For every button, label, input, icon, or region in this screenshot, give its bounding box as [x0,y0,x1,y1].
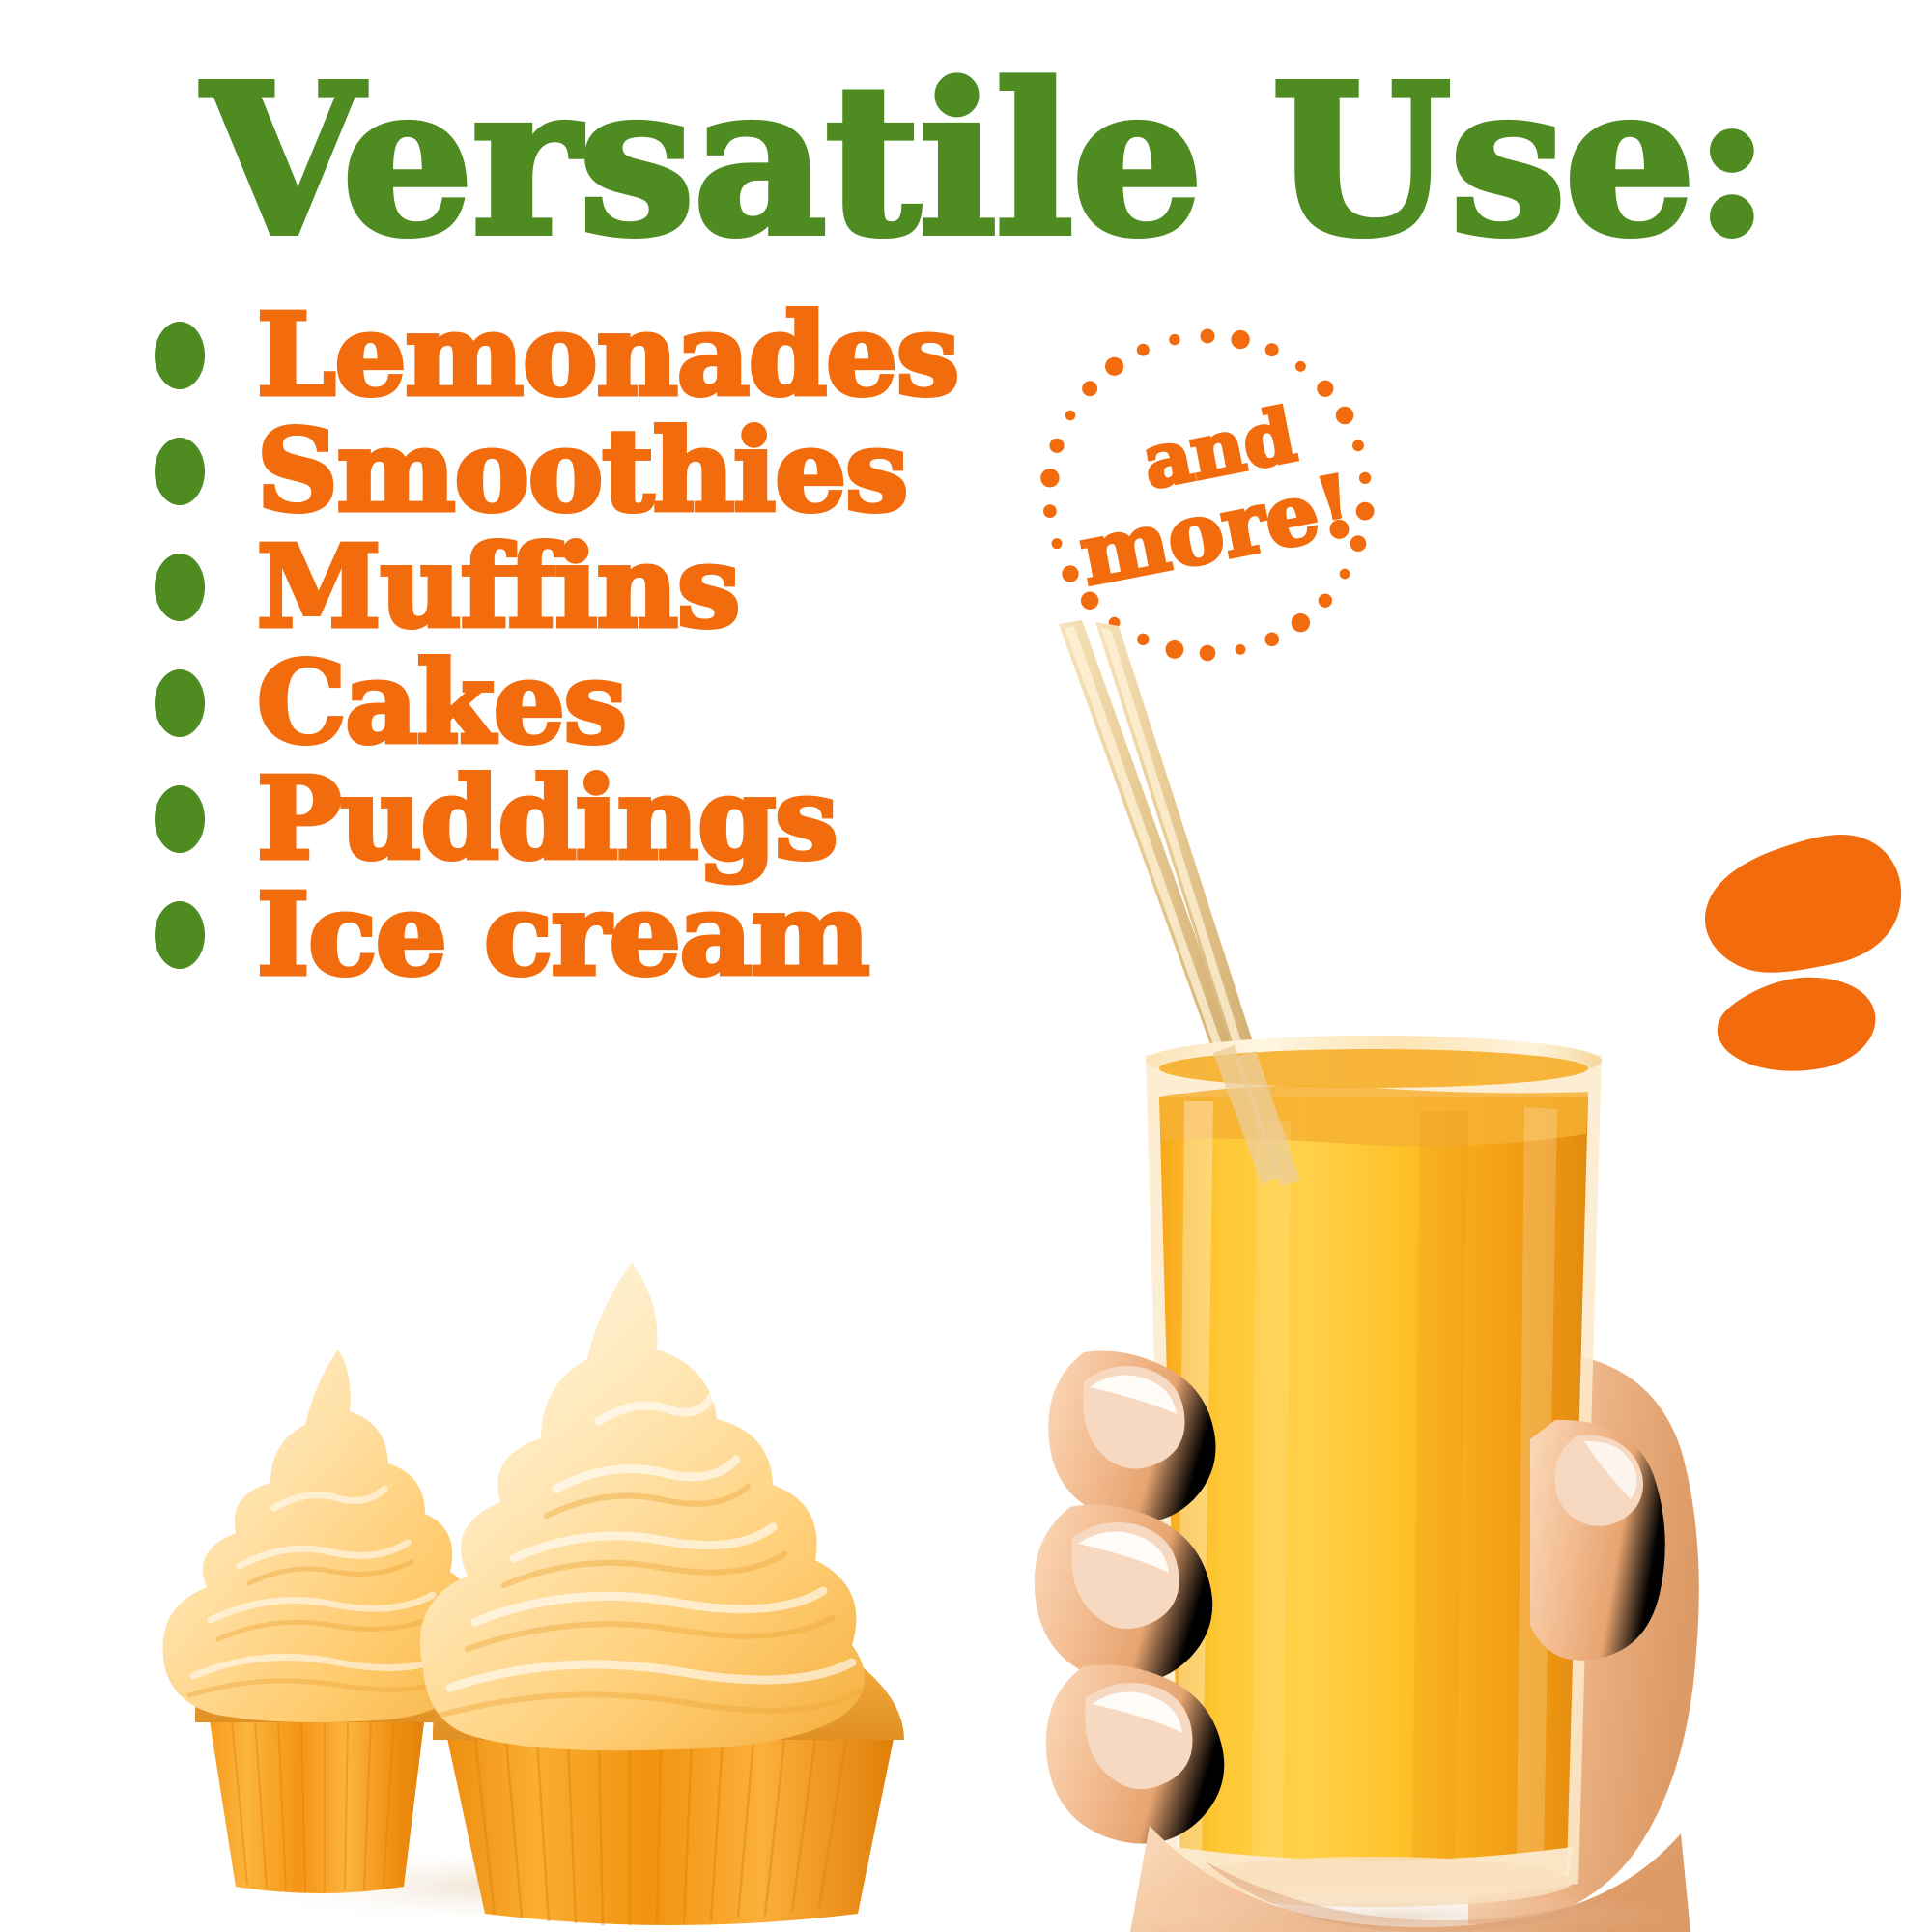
list-item-label: Muffins [257,531,739,643]
smoothie-photo [1014,618,1729,1932]
list-item: Smoothies [155,415,1121,527]
list-item-label: Puddings [257,763,838,875]
badge-line-more: more! [1074,468,1360,595]
poster-canvas: Versatile Use: Lemonades Smoothies Muffi… [0,0,1932,1932]
list-item-label: Smoothies [257,415,907,527]
green-oval-bullet-icon [155,438,205,505]
list-item: Lemonades [155,299,1121,412]
uses-list: Lemonades Smoothies Muffins Cakes Puddin… [155,299,1121,995]
list-item-label: Ice cream [257,879,869,991]
straws [1059,620,1256,1057]
list-item: Ice cream [155,879,1121,991]
list-item: Puddings [155,763,1121,875]
list-item-label: Cakes [257,647,626,759]
list-item-label: Lemonades [257,299,958,412]
page-title: Versatile Use: [135,60,1835,263]
list-item: Muffins [155,531,1121,643]
green-oval-bullet-icon [155,554,205,621]
cupcake-right [420,1263,904,1925]
green-oval-bullet-icon [155,322,205,389]
green-oval-bullet-icon [155,669,205,737]
list-item: Cakes [155,647,1121,759]
and-more-badge: and more! [1036,323,1379,667]
cupcakes-photo [135,1193,908,1927]
green-oval-bullet-icon [155,785,205,853]
green-oval-bullet-icon [155,901,205,969]
